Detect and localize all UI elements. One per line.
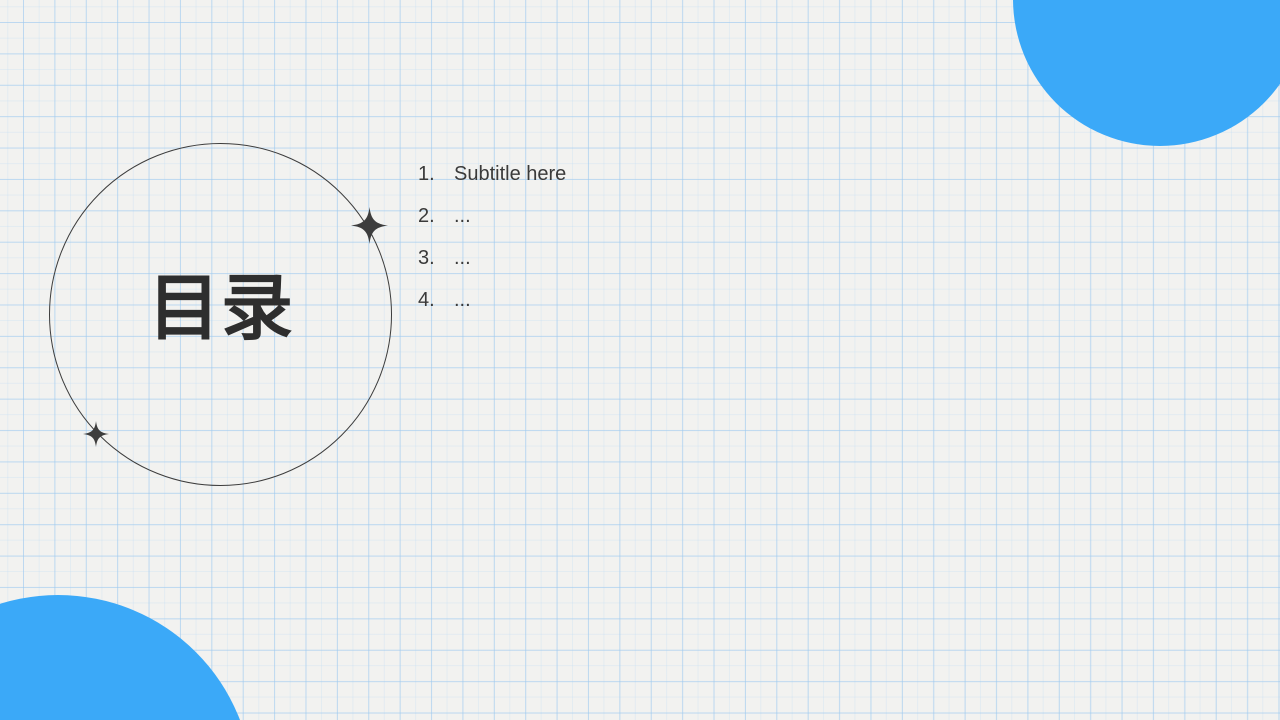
list-item-label: ... <box>454 205 838 228</box>
list-item-number: 1. <box>418 163 454 186</box>
list-item-number: 2. <box>418 205 454 228</box>
list-item-number: 3. <box>418 247 454 270</box>
slide-canvas: 目录 1. Subtitle here 2. ... 3. ... 4. ... <box>0 0 1280 720</box>
list-item[interactable]: 4. ... <box>418 289 838 331</box>
page-title: 目录 <box>148 272 294 344</box>
list-item[interactable]: 2. ... <box>418 205 838 247</box>
list-item[interactable]: 1. Subtitle here <box>418 163 838 205</box>
list-item-number: 4. <box>418 289 454 312</box>
sparkle-icon <box>83 421 109 447</box>
list-item-label: Subtitle here <box>454 163 838 186</box>
table-of-contents-list: 1. Subtitle here 2. ... 3. ... 4. ... <box>418 163 838 331</box>
list-item-label: ... <box>454 247 838 270</box>
sparkle-icon <box>351 207 388 244</box>
list-item-label: ... <box>454 289 838 312</box>
list-item[interactable]: 3. ... <box>418 247 838 289</box>
